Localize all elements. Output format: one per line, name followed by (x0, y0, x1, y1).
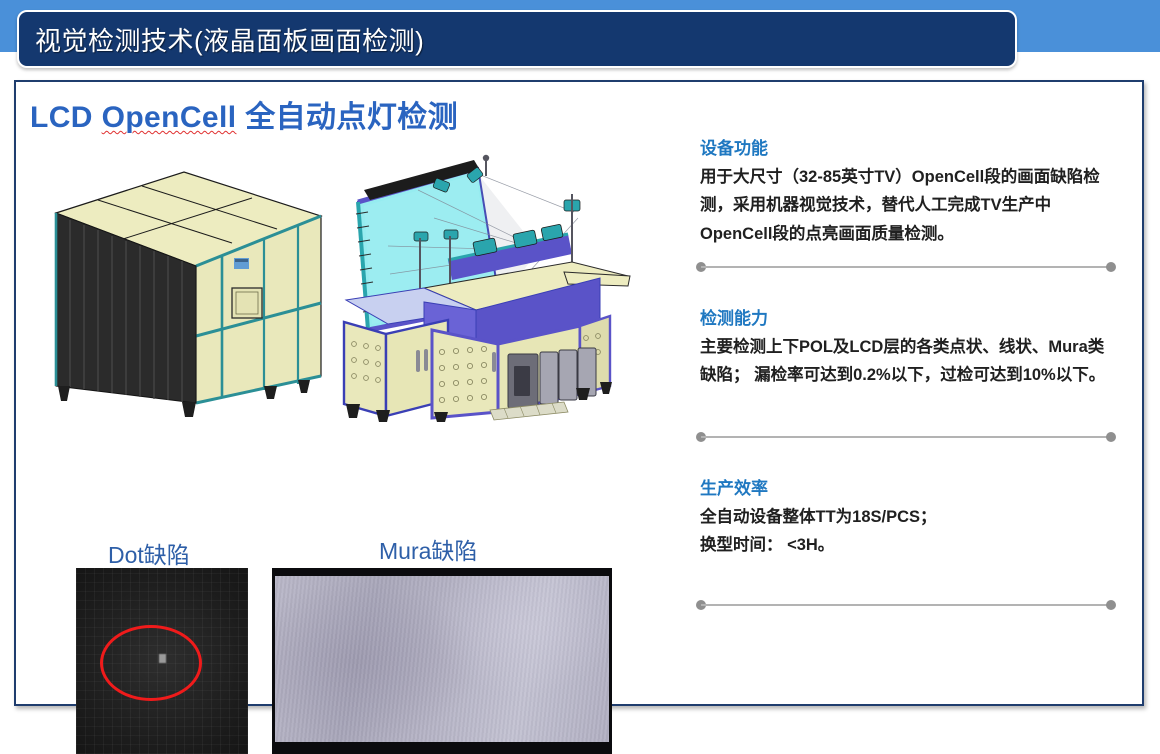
equipment-illustrations-column: Dot缺陷 Mura缺陷 (16, 140, 676, 700)
page-title: 视觉检测技术(液晶面板画面检测) (19, 21, 424, 58)
info-block-body: 全自动设备整体TT为18S/PCS； 换型时间： <3H。 (700, 503, 1112, 560)
specifications-column: 设备功能 用于大尺寸（32-85英寸TV）OpenCell段的画面缺陷检测，采用… (676, 134, 1131, 699)
mura-panel-surface (275, 576, 609, 742)
slide-content-frame: LCD OpenCell 全自动点灯检测 (14, 80, 1144, 706)
section-title: LCD OpenCell 全自动点灯检测 (30, 92, 458, 136)
section-divider (696, 262, 1116, 272)
slide-title-bar: 视觉检测技术(液晶面板画面检测) (17, 10, 1017, 68)
machine-station-illustration (328, 154, 648, 422)
info-block-heading: 生产效率 (700, 474, 1116, 499)
info-block-inspection-capability: 检测能力 主要检测上下POL及LCD层的各类点状、线状、Mura类缺陷； 漏检率… (676, 304, 1116, 390)
info-block-production-efficiency: 生产效率 全自动设备整体TT为18S/PCS； 换型时间： <3H。 (676, 474, 1116, 560)
mura-defect-caption: Mura缺陷 (379, 532, 477, 566)
section-title-suffix: 全自动点灯检测 (236, 101, 458, 134)
section-divider (696, 600, 1116, 610)
divider-line (701, 266, 1111, 268)
dot-defect-sample-image (76, 568, 248, 754)
divider-dot-right (1106, 262, 1116, 272)
info-block-equipment-function: 设备功能 用于大尺寸（32-85英寸TV）OpenCell段的画面缺陷检测，采用… (676, 134, 1116, 248)
section-divider (696, 432, 1116, 442)
mura-defect-sample-image (272, 568, 612, 754)
info-block-body: 主要检测上下POL及LCD层的各类点状、线状、Mura类缺陷； 漏检率可达到0.… (700, 333, 1112, 390)
defect-highlight-circle (100, 625, 202, 701)
divider-line (701, 604, 1111, 606)
section-title-spellchecked-term: OpenCell (102, 101, 237, 134)
machine-enclosure-illustration (36, 158, 326, 418)
mura-texture-overlay (275, 576, 609, 742)
info-block-heading: 设备功能 (700, 134, 1116, 159)
divider-dot-right (1106, 600, 1116, 610)
divider-dot-right (1106, 432, 1116, 442)
dot-defect-caption: Dot缺陷 (108, 536, 190, 570)
section-title-prefix: LCD (30, 101, 102, 134)
info-block-heading: 检测能力 (700, 304, 1116, 329)
info-block-body: 用于大尺寸（32-85英寸TV）OpenCell段的画面缺陷检测，采用机器视觉技… (700, 163, 1112, 248)
divider-line (701, 436, 1111, 438)
